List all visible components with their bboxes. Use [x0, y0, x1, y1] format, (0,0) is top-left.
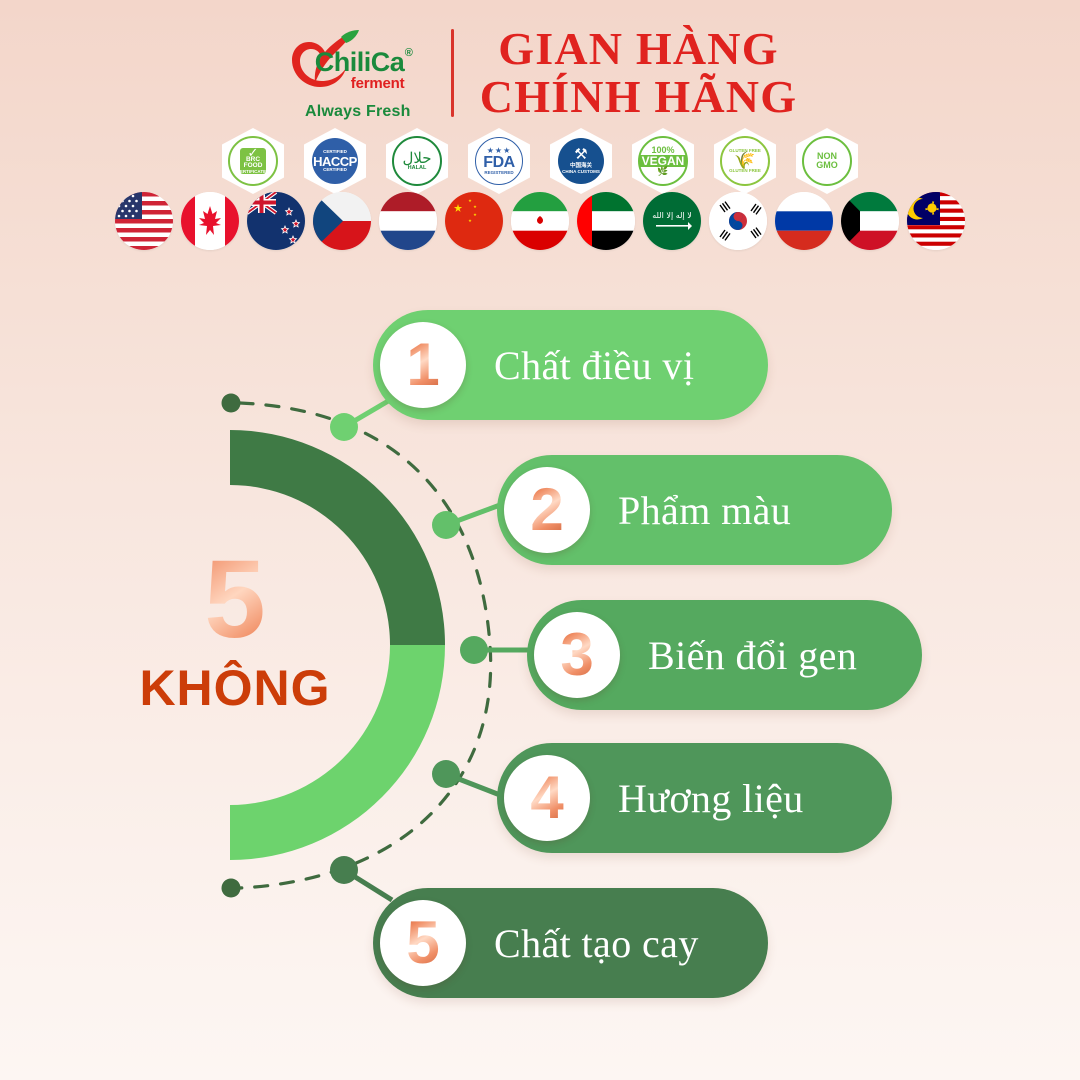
item-5-label: Chất tạo cay	[494, 920, 699, 967]
cert-badge-halal: حلال HALAL	[386, 128, 448, 194]
item-2-label: Phẩm màu	[618, 487, 791, 534]
cert-haccp-line2: HACCP	[313, 155, 357, 168]
center-word: KHÔNG	[130, 659, 340, 717]
flag-nl	[379, 192, 437, 250]
header: ChiliCa ® ferment Always Fresh GIAN HÀNG…	[0, 18, 1080, 128]
cert-badge-non-gmo: NON GMO	[796, 128, 858, 194]
connector-dot-4	[432, 760, 460, 788]
flag-ca	[181, 192, 239, 250]
item-5-number: 5	[406, 913, 439, 973]
cert-badge-vegan: 100% VEGAN 🌿	[632, 128, 694, 194]
list-item-3[interactable]: 3 Biến đổi gen	[527, 600, 922, 710]
list-item-4[interactable]: 4 Hương liệu	[497, 743, 892, 853]
item-2-number-circle: 2	[504, 467, 590, 553]
item-1-number: 1	[406, 335, 439, 395]
cert-badge-fda: ★★★ FDA REGISTERED	[468, 128, 530, 194]
cert-haccp-line3: CERTIFIED	[323, 168, 347, 173]
logo-registered-mark: ®	[405, 47, 413, 59]
logo-wordmark: ChiliCa	[315, 47, 405, 78]
headline-line-2: CHÍNH HÃNG	[480, 73, 797, 121]
item-4-number-circle: 4	[504, 755, 590, 841]
header-divider	[451, 29, 454, 117]
connector-dot-3	[460, 636, 488, 664]
logo-tagline: Always Fresh	[305, 103, 411, 121]
flag-nz	[247, 192, 305, 250]
item-3-label: Biến đổi gen	[648, 632, 857, 679]
cert-cc-line2: CHINA CUSTOMS	[562, 170, 600, 175]
logo-subtext: ferment	[351, 75, 405, 92]
headline-line-1: GIAN HÀNG	[498, 25, 778, 73]
item-2-number: 2	[530, 480, 563, 540]
cert-halal-line2: HALAL	[408, 166, 427, 172]
five-no-diagram: 5 KHÔNG 1 Chất điều vị 2 Phẩm màu 3 Biến…	[0, 290, 1080, 1050]
cert-badge-brc-food: ✓ BRC FOOD CERTIFICATED	[222, 128, 284, 194]
item-4-number: 4	[530, 768, 563, 828]
item-5-number-circle: 5	[380, 900, 466, 986]
cert-badge-china-customs: ⚒ 中国海关 CHINA CUSTOMS	[550, 128, 612, 194]
connector-dot-5	[330, 856, 358, 884]
center-number: 5	[130, 545, 340, 655]
item-3-number-circle: 3	[534, 612, 620, 698]
cert-fda-line1: FDA	[483, 155, 514, 171]
connector-dot-1	[330, 413, 358, 441]
cert-brc-line3: CERTIFICATED	[237, 170, 270, 175]
brand-logo: ChiliCa ® ferment Always Fresh	[283, 21, 433, 126]
flag-sa: لا إله إلا الله	[643, 192, 701, 250]
cert-gf-line2: GLUTEN FREE	[729, 169, 761, 174]
headline: GIAN HÀNG CHÍNH HÃNG	[480, 25, 797, 121]
cert-badge-gluten-free: GLUTEN FREE 🌾 GLUTEN FREE	[714, 128, 776, 194]
country-flags: لا إله إلا الله	[0, 192, 1080, 250]
flag-ae	[577, 192, 635, 250]
item-3-number: 3	[560, 625, 593, 685]
svg-text:لا إله إلا الله: لا إله إلا الله	[652, 211, 692, 221]
cert-halal-arabic: حلال	[402, 151, 431, 166]
connector-dot-2	[432, 511, 460, 539]
flag-ru	[775, 192, 833, 250]
item-4-label: Hương liệu	[618, 775, 804, 822]
infographic-canvas: ChiliCa ® ferment Always Fresh GIAN HÀNG…	[0, 0, 1080, 1080]
flag-ir	[511, 192, 569, 250]
list-item-1[interactable]: 1 Chất điều vị	[373, 310, 768, 420]
cert-gmo-line2: GMO	[816, 161, 838, 170]
certification-badges: ✓ BRC FOOD CERTIFICATED CERTIFIED HACCP …	[0, 128, 1080, 194]
flag-cz	[313, 192, 371, 250]
flag-kw	[841, 192, 899, 250]
dash-endpoint-bottom-dot	[222, 879, 241, 898]
list-item-5[interactable]: 5 Chất tạo cay	[373, 888, 768, 998]
center-label: 5 KHÔNG	[130, 545, 340, 717]
cert-badge-haccp: CERTIFIED HACCP CERTIFIED	[304, 128, 366, 194]
flag-kr	[709, 192, 767, 250]
item-1-number-circle: 1	[380, 322, 466, 408]
cert-fda-line2: REGISTERED	[484, 171, 513, 176]
dash-endpoint-top-dot	[222, 394, 241, 413]
flag-us	[115, 192, 173, 250]
flag-cn	[445, 192, 503, 250]
list-item-2[interactable]: 2 Phẩm màu	[497, 455, 892, 565]
flag-my	[907, 192, 965, 250]
item-1-label: Chất điều vị	[494, 342, 694, 389]
